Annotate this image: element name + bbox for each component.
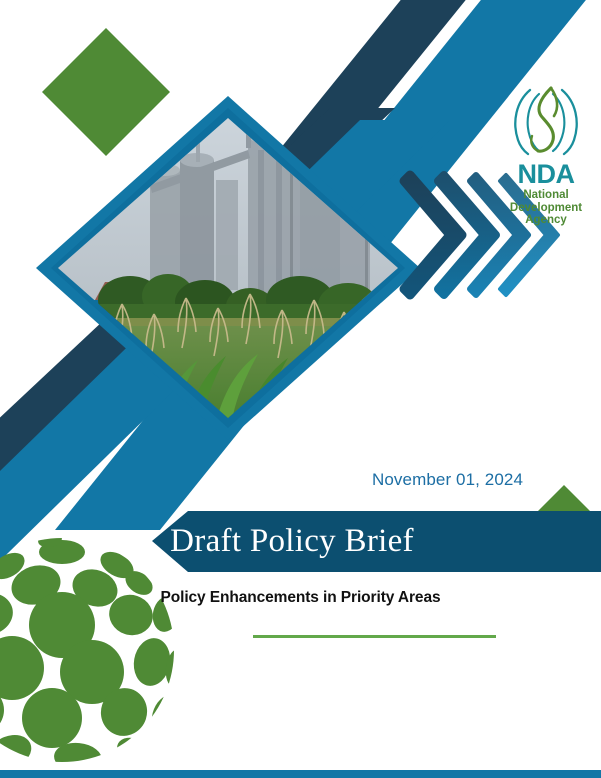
nda-leaf-mark-icon — [508, 84, 584, 158]
nda-logo: NDA National Development Agency — [503, 84, 589, 227]
accent-rule — [253, 635, 496, 638]
logo-name-line-3: Agency — [503, 214, 589, 227]
footer-bar — [0, 770, 601, 778]
policy-brief-cover-page: NDA National Development Agency November… — [0, 0, 601, 778]
logo-name-line-1: National — [503, 189, 589, 202]
publication-date: November 01, 2024 — [0, 470, 523, 490]
page-subtitle: Policy Enhancements in Priority Areas — [0, 589, 601, 607]
logo-acronym: NDA — [503, 160, 589, 188]
page-title: Draft Policy Brief — [0, 521, 584, 561]
logo-full-name: National Development Agency — [503, 189, 589, 227]
logo-name-line-2: Development — [503, 202, 589, 215]
